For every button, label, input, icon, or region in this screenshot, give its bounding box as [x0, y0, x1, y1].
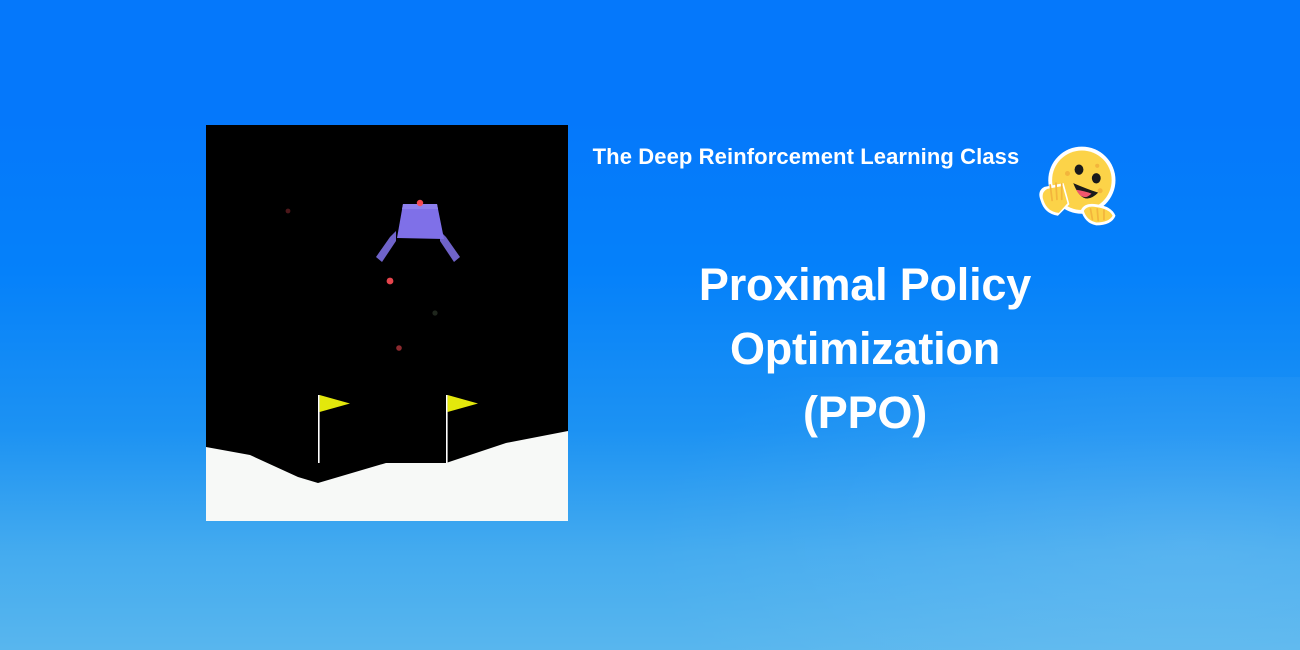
hugging-face-emoji: [1031, 137, 1127, 233]
course-title: The Deep Reinforcement Learning Class: [585, 143, 1027, 171]
particle: [387, 278, 394, 285]
hugging-face-emoji-art: [1031, 137, 1127, 233]
course-header: The Deep Reinforcement Learning Class: [585, 143, 1145, 233]
right-flag-pole: [446, 395, 448, 463]
particle: [417, 200, 423, 206]
page-title-line-1: Proximal Policy: [615, 253, 1115, 317]
lunar-lander-screenshot: [206, 125, 568, 521]
lander-body: [397, 204, 444, 239]
lunar-lander-render: [206, 125, 568, 521]
particle: [286, 209, 291, 214]
page-title-line-2: Optimization: [615, 317, 1115, 381]
page-title: Proximal Policy Optimization (PPO): [615, 253, 1115, 445]
left-flag-pole: [318, 395, 320, 463]
particle: [432, 310, 437, 315]
slide-canvas: The Deep Reinforcement Learning Class: [0, 0, 1300, 650]
page-title-line-3: (PPO): [615, 381, 1115, 445]
text-column: The Deep Reinforcement Learning Class: [585, 125, 1145, 525]
particle: [396, 345, 402, 351]
